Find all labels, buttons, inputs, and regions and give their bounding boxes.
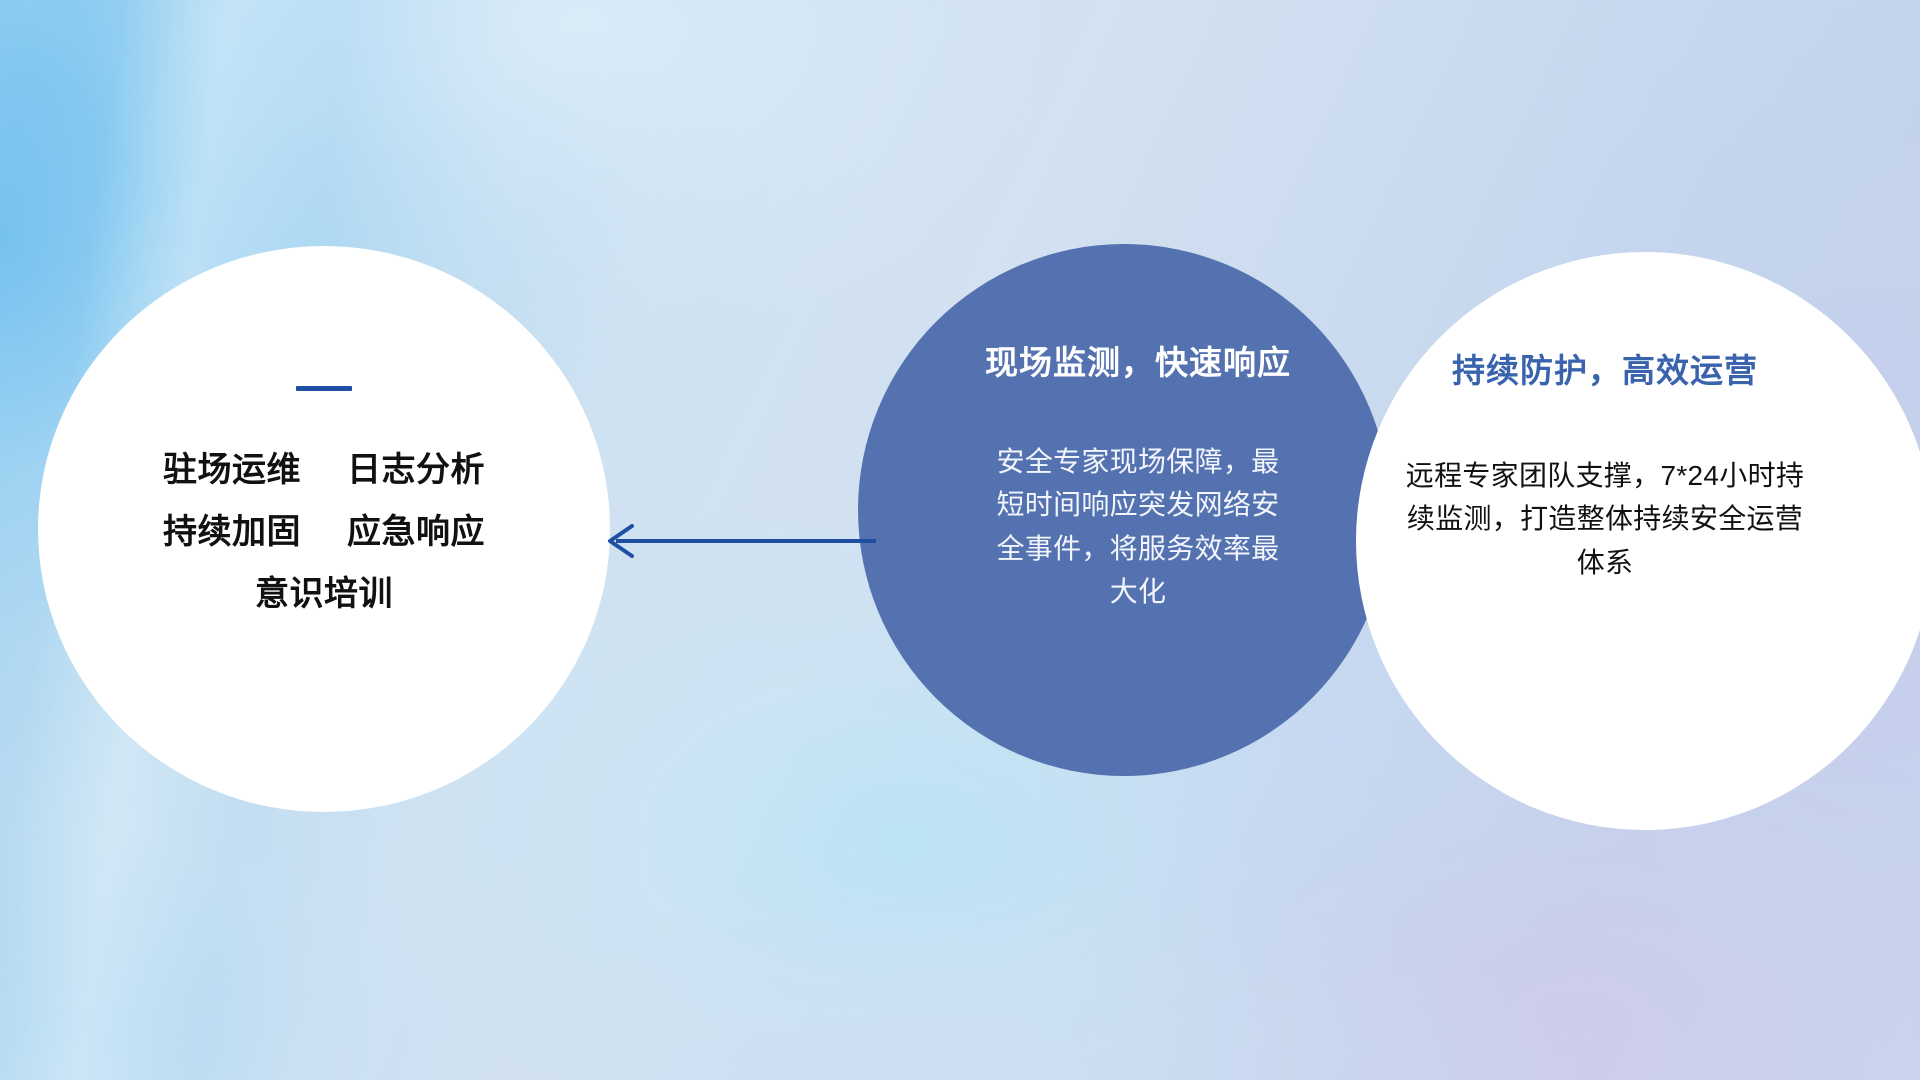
service-tag-row: 驻场运维 日志分析 <box>163 453 485 487</box>
circle-onsite-monitoring-content: 现场监测，快速响应 安全专家现场保障，最短时间响应突发网络安全事件，将服务效率最… <box>908 244 1368 776</box>
circle-continuous-protection[interactable]: 持续防护，高效运营 远程专家团队支撑，7*24小时持续监测，打造整体持续安全运营… <box>1356 252 1920 830</box>
slide-canvas: 现场监测，快速响应 安全专家现场保障，最短时间响应突发网络安全事件，将服务效率最… <box>0 0 1920 1080</box>
circle-service-capabilities-content: 驻场运维 日志分析 持续加固 应急响应 意识培训 <box>38 246 610 812</box>
service-tag-awareness-training: 意识培训 <box>255 575 393 613</box>
service-tag-continuous-hardening: 持续加固 <box>163 513 301 551</box>
circle-onsite-monitoring-body: 安全专家现场保障，最短时间响应突发网络安全事件，将服务效率最大化 <box>988 440 1288 614</box>
service-tag-onsite-ops: 驻场运维 <box>163 451 301 489</box>
circle-continuous-protection-title: 持续防护，高效运营 <box>1452 344 1758 392</box>
service-tag-emergency-response: 应急响应 <box>347 513 485 551</box>
service-tag-list: 驻场运维 日志分析 持续加固 应急响应 意识培训 <box>163 453 485 611</box>
left-arrow-icon <box>598 518 878 564</box>
service-tag-row: 持续加固 应急响应 <box>163 515 485 549</box>
circle-onsite-monitoring-title: 现场监测，快速响应 <box>985 336 1291 384</box>
circle-continuous-protection-body: 远程专家团队支撑，7*24小时持续监测，打造整体持续安全运营体系 <box>1405 454 1805 584</box>
circle-continuous-protection-content: 持续防护，高效运营 远程专家团队支撑，7*24小时持续监测，打造整体持续安全运营… <box>1390 252 1820 830</box>
accent-dash-icon <box>296 386 352 391</box>
circle-service-capabilities[interactable]: 驻场运维 日志分析 持续加固 应急响应 意识培训 <box>38 246 610 812</box>
service-tag-row: 意识培训 <box>163 577 485 611</box>
service-tag-log-analysis: 日志分析 <box>347 451 485 489</box>
circle-onsite-monitoring[interactable]: 现场监测，快速响应 安全专家现场保障，最短时间响应突发网络安全事件，将服务效率最… <box>858 244 1390 776</box>
